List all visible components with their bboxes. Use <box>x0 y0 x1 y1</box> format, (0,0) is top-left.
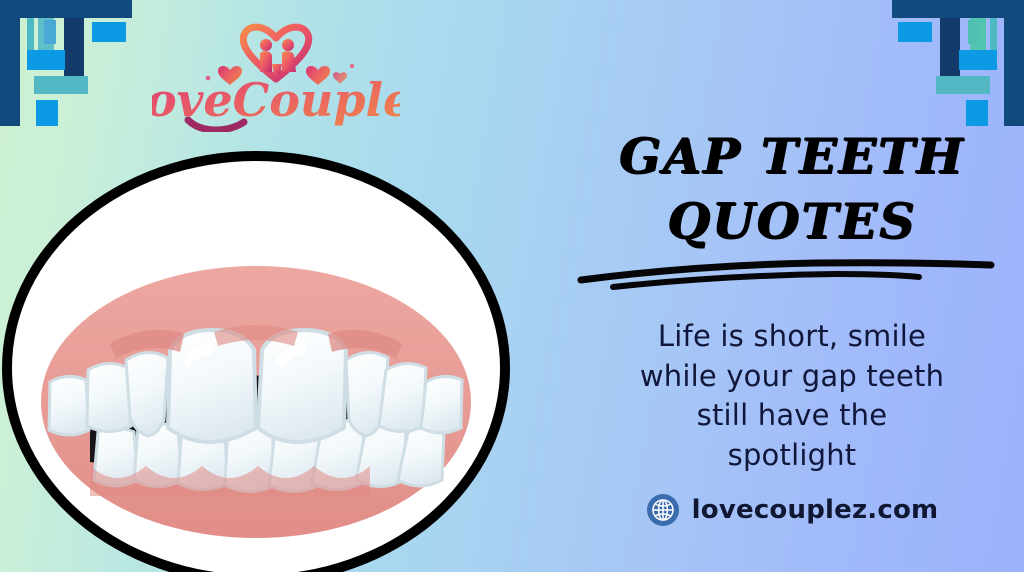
quote-line: while your gap teeth <box>576 357 1008 396</box>
quote-line: still have the <box>576 396 1008 435</box>
gap-teeth-illustration <box>0 132 542 572</box>
brand-logo: LoveCouplez <box>152 16 400 132</box>
quote-line: Life is short, smile <box>576 317 1008 356</box>
hand-drawn-underline-icon <box>577 259 1007 295</box>
corner-blocks-left-icon <box>0 0 132 126</box>
content-column: GAP TEETH QUOTES Life is short, smile wh… <box>568 124 1016 527</box>
site-footer: lovecouplez.com <box>568 493 1016 527</box>
corner-blocks-right-icon <box>892 0 1024 126</box>
corner-decoration-right <box>892 0 1024 126</box>
page-title: GAP TEETH QUOTES <box>568 124 1016 253</box>
site-url: lovecouplez.com <box>692 495 939 525</box>
corner-decoration-left <box>0 0 132 126</box>
title-line-1: GAP TEETH <box>619 127 965 185</box>
mouth-group <box>41 266 471 538</box>
heart-couple-icon <box>243 27 309 79</box>
quote-line: spotlight <box>576 436 1008 475</box>
poster-canvas: LoveCouplez <box>0 0 1024 572</box>
quote-text: Life is short, smile while your gap teet… <box>576 317 1008 475</box>
title-line-2: QUOTES <box>667 192 916 250</box>
globe-icon <box>646 493 680 527</box>
